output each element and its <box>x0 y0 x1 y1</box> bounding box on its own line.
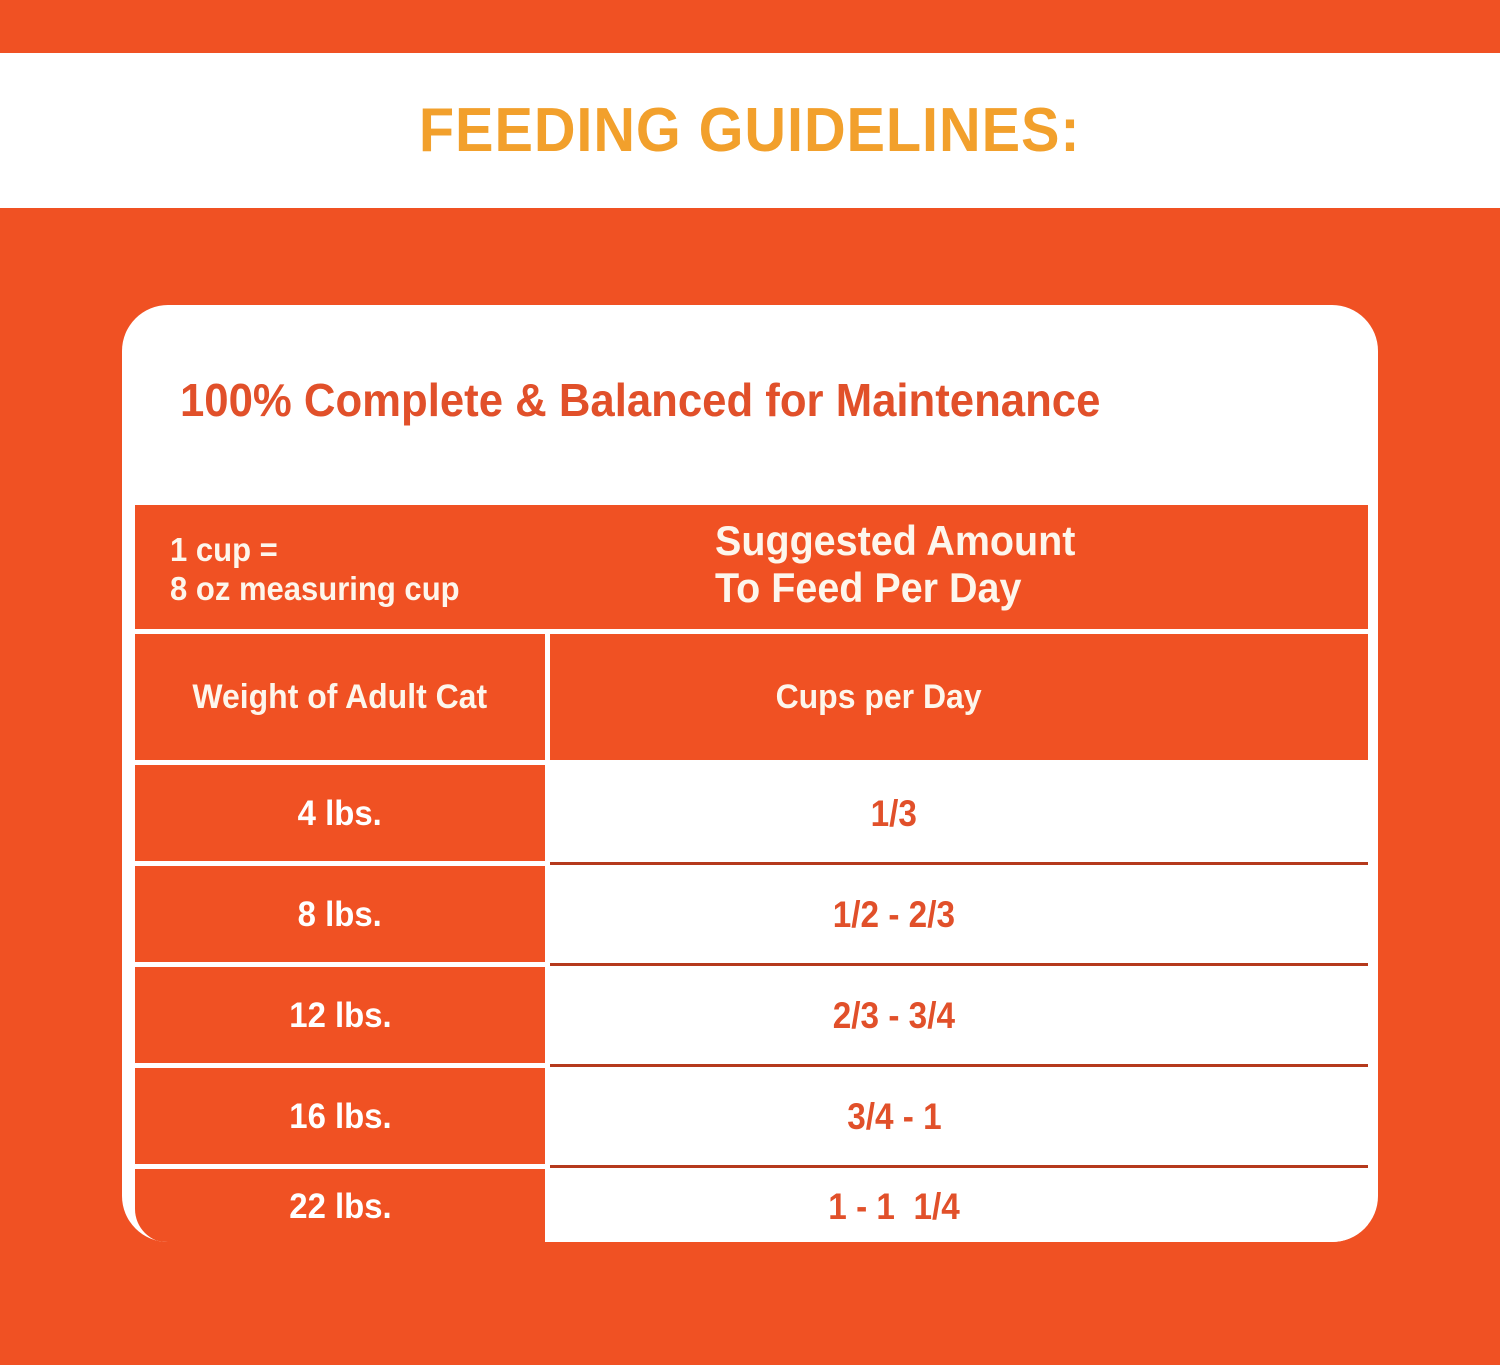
cups-value: 2/3 - 3/4 <box>833 997 955 1034</box>
feeding-guidelines-page: FEEDING GUIDELINES: 100% Complete & Bala… <box>0 0 1500 1365</box>
column-header-cups: Cups per Day <box>776 680 982 714</box>
table-header-row-1: 1 cup = 8 oz measuring cup Suggested Amo… <box>135 505 1368 629</box>
weight-value: 12 lbs. <box>289 998 391 1033</box>
weight-cell: 4 lbs. <box>135 765 545 861</box>
weight-cell: 16 lbs. <box>135 1068 545 1164</box>
weight-cell: 8 lbs. <box>135 866 545 962</box>
cups-cell: 1/3 <box>550 765 1368 861</box>
feeding-card: 100% Complete & Balanced for Maintenance… <box>122 305 1378 1242</box>
table-row: 16 lbs. 3/4 - 1 <box>135 1068 1368 1164</box>
page-title: FEEDING GUIDELINES: <box>419 100 1081 162</box>
cups-value: 3/4 - 1 <box>847 1098 941 1135</box>
column-header-weight: Weight of Adult Cat <box>193 680 488 714</box>
weight-value: 22 lbs. <box>289 1189 391 1224</box>
weight-value: 16 lbs. <box>289 1099 391 1134</box>
header-cell-cups: Cups per Day <box>550 634 1368 760</box>
top-orange-bar <box>0 0 1500 53</box>
cup-measure-note: 1 cup = 8 oz measuring cup <box>170 531 460 609</box>
row-separator <box>550 862 1368 865</box>
weight-cell: 12 lbs. <box>135 967 545 1063</box>
cups-value: 1/2 - 2/3 <box>833 896 955 933</box>
header-cell-weight: Weight of Adult Cat <box>135 634 545 760</box>
cups-cell: 3/4 - 1 <box>550 1068 1368 1164</box>
feeding-table: 1 cup = 8 oz measuring cup Suggested Amo… <box>135 505 1368 1242</box>
table-row: 12 lbs. 2/3 - 3/4 <box>135 967 1368 1063</box>
table-row: 22 lbs. 1 - 1 1/4 <box>135 1169 1368 1242</box>
weight-value: 8 lbs. <box>298 897 382 932</box>
cups-cell: 2/3 - 3/4 <box>550 967 1368 1063</box>
table-header-row-2: Weight of Adult Cat Cups per Day <box>135 634 1368 760</box>
suggested-amount-header: Suggested Amount To Feed Per Day <box>715 517 1075 611</box>
row-separator <box>550 963 1368 966</box>
table-row: 8 lbs. 1/2 - 2/3 <box>135 866 1368 962</box>
table-row: 4 lbs. 1/3 <box>135 765 1368 861</box>
title-band: FEEDING GUIDELINES: <box>0 53 1500 208</box>
cups-value: 1/3 <box>871 795 917 832</box>
weight-value: 4 lbs. <box>298 796 382 831</box>
card-heading: 100% Complete & Balanced for Maintenance <box>180 377 1100 423</box>
cups-cell: 1/2 - 2/3 <box>550 866 1368 962</box>
cups-value: 1 - 1 1/4 <box>828 1188 959 1225</box>
weight-cell: 22 lbs. <box>135 1169 545 1242</box>
row-separator <box>550 1064 1368 1067</box>
cups-cell: 1 - 1 1/4 <box>550 1169 1368 1242</box>
row-separator <box>550 1165 1368 1168</box>
